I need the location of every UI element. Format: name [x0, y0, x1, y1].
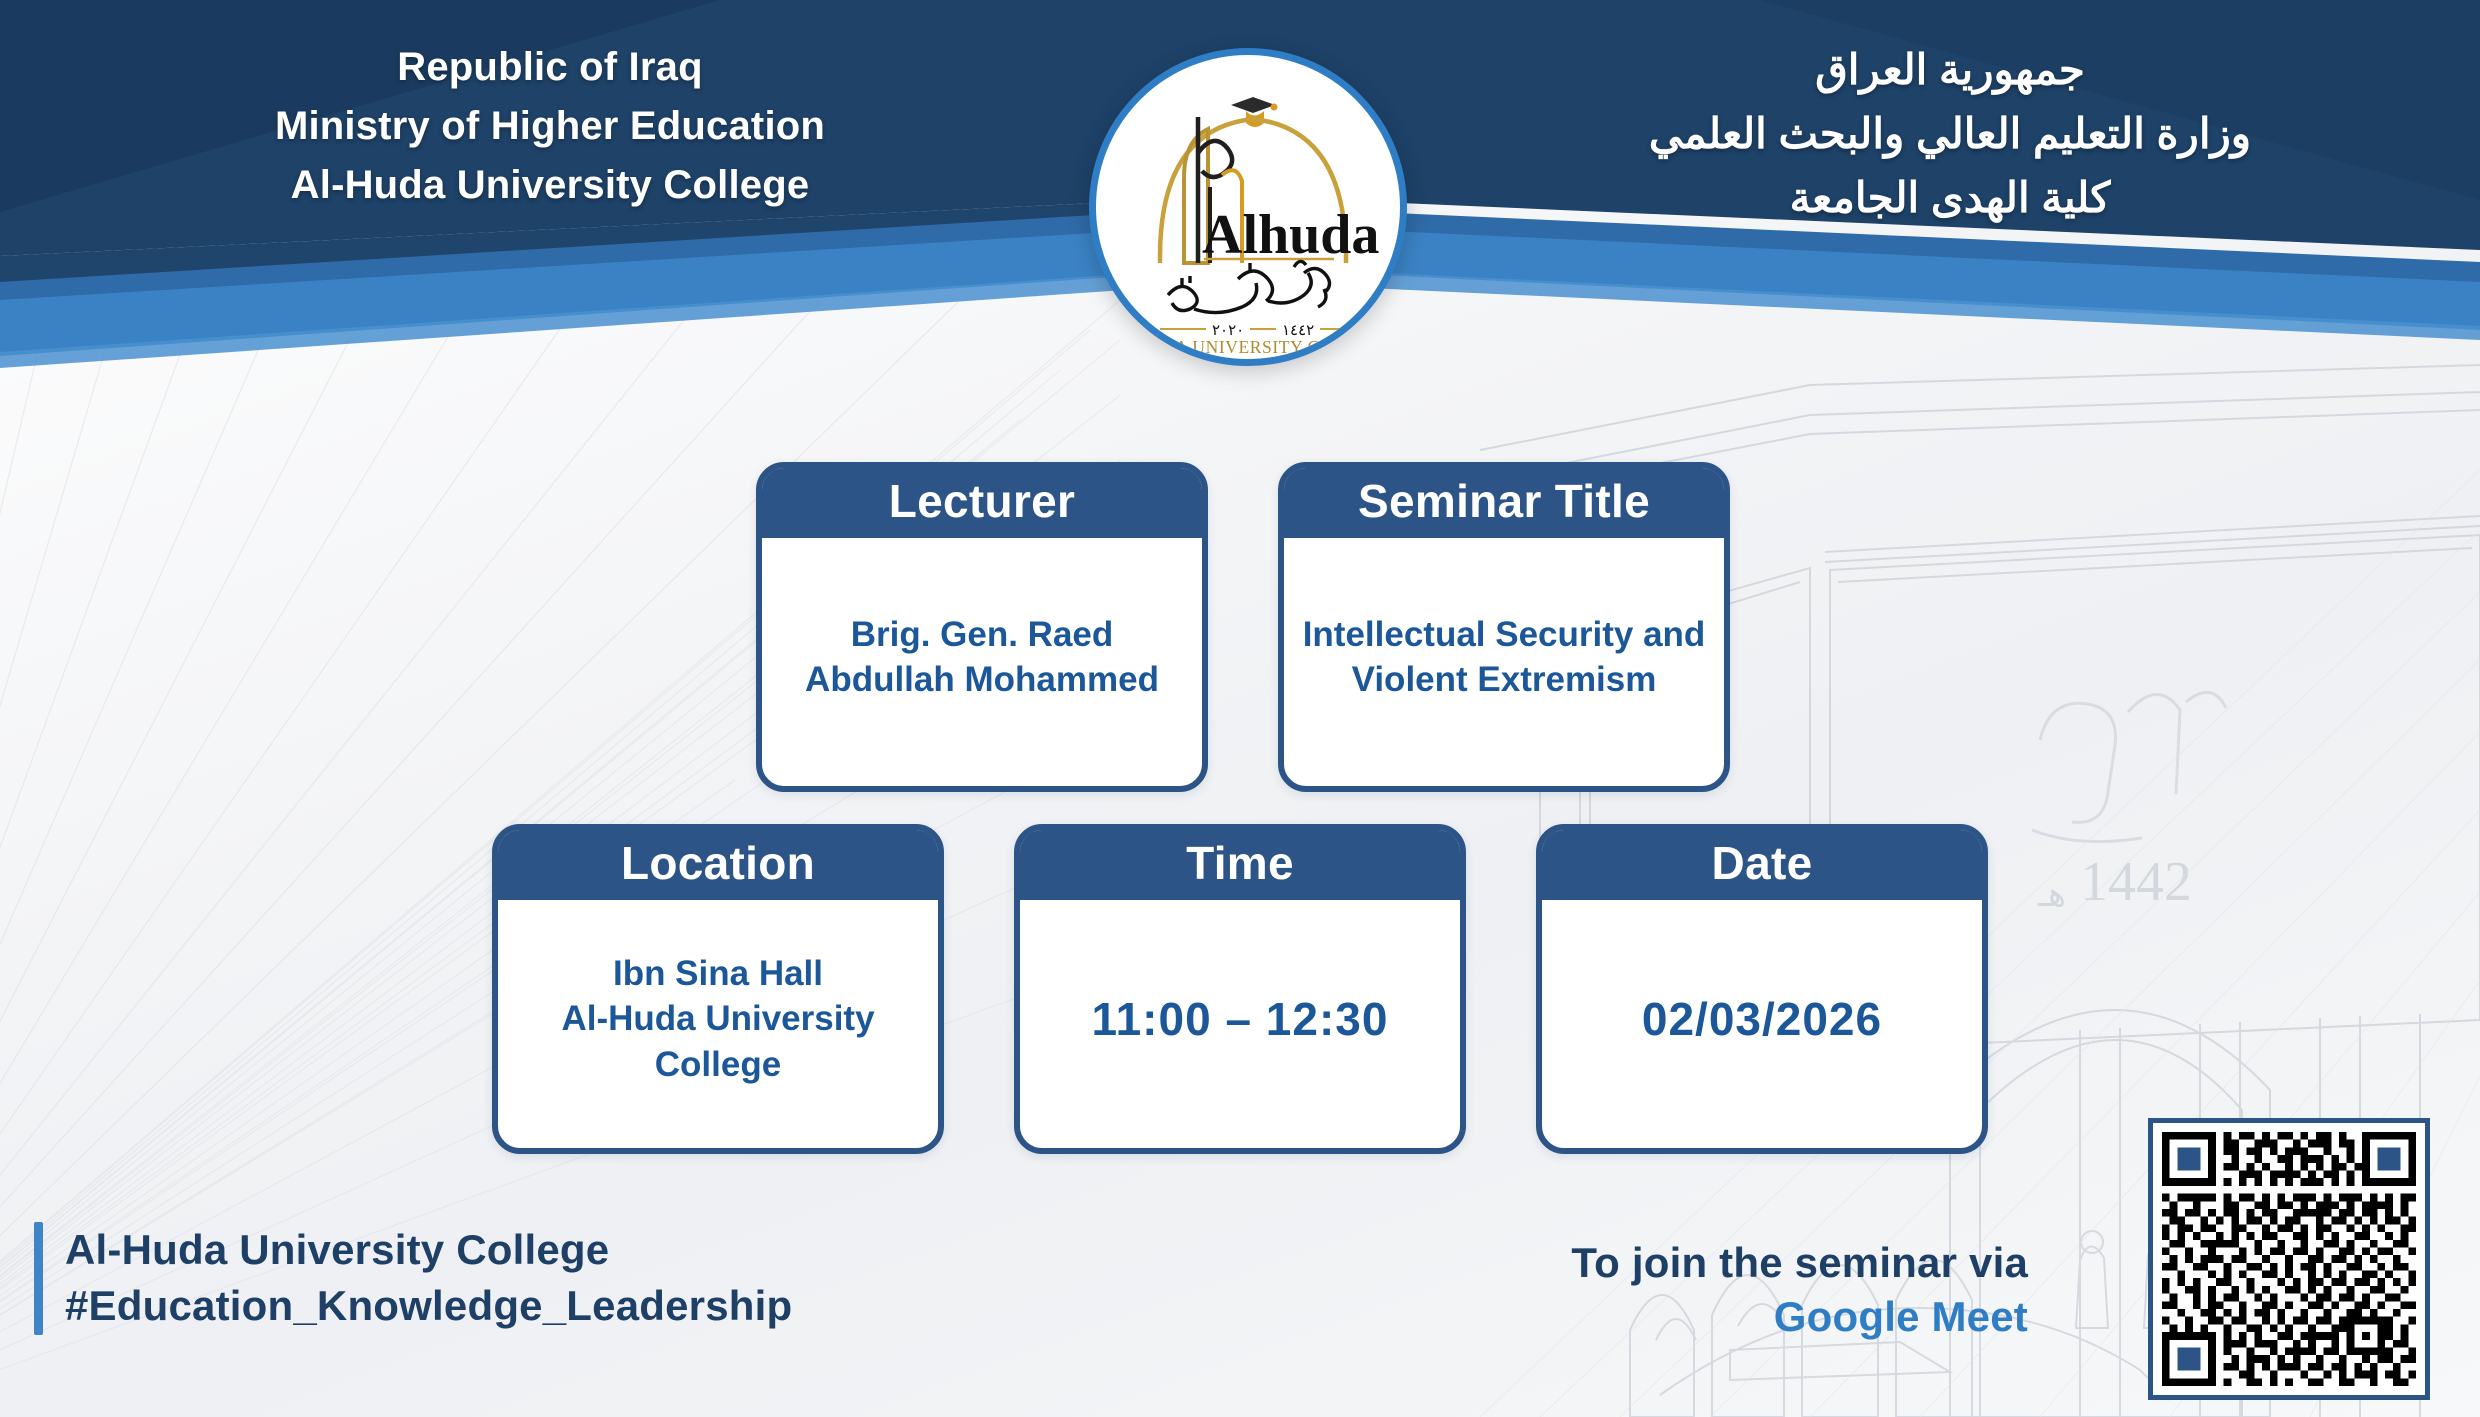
header-arabic-block: جمهورية العراق وزارة التعليم العالي والب…	[1550, 38, 2350, 229]
qr-code-image[interactable]	[2162, 1132, 2416, 1386]
logo-arabic-calligraphy	[1168, 261, 1330, 312]
card-lecturer-title: Lecturer	[762, 468, 1202, 538]
header-ar-line-2: وزارة التعليم العالي والبحث العلمي	[1550, 102, 2350, 166]
qr-code[interactable]	[2148, 1118, 2430, 1400]
card-seminar-body: Intellectual Security andViolent Extremi…	[1284, 538, 1724, 786]
footer-accent-bar	[34, 1222, 43, 1335]
header-en-line-1: Republic of Iraq	[150, 38, 950, 97]
svg-text:هـ: هـ	[2037, 877, 2066, 914]
footer-text-block: Al-Huda University College #Education_Kn…	[65, 1222, 792, 1335]
header-english-block: Republic of Iraq Ministry of Higher Educ…	[150, 38, 950, 216]
card-seminar-title: Seminar Title Intellectual Security andV…	[1278, 462, 1730, 792]
card-lecturer: Lecturer Brig. Gen. RaedAbdullah Mohamme…	[756, 462, 1208, 792]
footer-branding: Al-Huda University College #Education_Kn…	[34, 1222, 792, 1335]
join-instructions: To join the seminar via Google Meet	[1571, 1236, 2028, 1344]
header-ar-line-1: جمهورية العراق	[1550, 38, 2350, 102]
header-en-line-2: Ministry of Higher Education	[150, 97, 950, 156]
header-en-line-3: Al-Huda University College	[150, 156, 950, 215]
card-time-value: 11:00 – 12:30	[1092, 994, 1389, 1045]
card-location: Location Ibn Sina HallAl-Huda University…	[492, 824, 944, 1154]
footer-org-name: Al-Huda University College	[65, 1222, 792, 1278]
header-ar-line-3: كلية الهدى الجامعة	[1550, 166, 2350, 230]
card-location-title: Location	[498, 830, 938, 900]
card-location-body: Ibn Sina HallAl-Huda UniversityCollege	[498, 900, 938, 1148]
join-line-2: Google Meet	[1571, 1290, 2028, 1344]
card-time-title: Time	[1020, 830, 1460, 900]
card-time-body: 11:00 – 12:30	[1020, 900, 1460, 1148]
card-location-value: Ibn Sina HallAl-Huda UniversityCollege	[561, 951, 874, 1088]
card-time: Time 11:00 – 12:30	[1014, 824, 1466, 1154]
card-seminar-value: Intellectual Security andViolent Extremi…	[1303, 612, 1706, 703]
qr-alignment-pattern	[2347, 1317, 2385, 1355]
join-line-1: To join the seminar via	[1571, 1236, 2028, 1290]
alhuda-logo-mark: Alhuda ٢٠٢٠ ١٤٤٢ AL-H	[1098, 57, 1398, 357]
card-lecturer-body: Brig. Gen. RaedAbdullah Mohammed	[762, 538, 1202, 786]
card-date-title: Date	[1542, 830, 1982, 900]
card-date-body: 02/03/2026	[1542, 900, 1982, 1148]
university-logo: Alhuda ٢٠٢٠ ١٤٤٢ AL-H	[1089, 48, 1407, 366]
card-date: Date 02/03/2026	[1536, 824, 1988, 1154]
card-date-value: 02/03/2026	[1642, 994, 1882, 1045]
card-lecturer-value: Brig. Gen. RaedAbdullah Mohammed	[805, 612, 1159, 703]
logo-wordmark: Alhuda	[1202, 204, 1379, 266]
card-seminar-title-label: Seminar Title	[1284, 468, 1724, 538]
seminar-poster: 1442 هـ ٢٠٢٠	[0, 0, 2480, 1417]
footer-hashtag: #Education_Knowledge_Leadership	[65, 1278, 792, 1334]
svg-text:1442: 1442	[2080, 851, 2192, 913]
